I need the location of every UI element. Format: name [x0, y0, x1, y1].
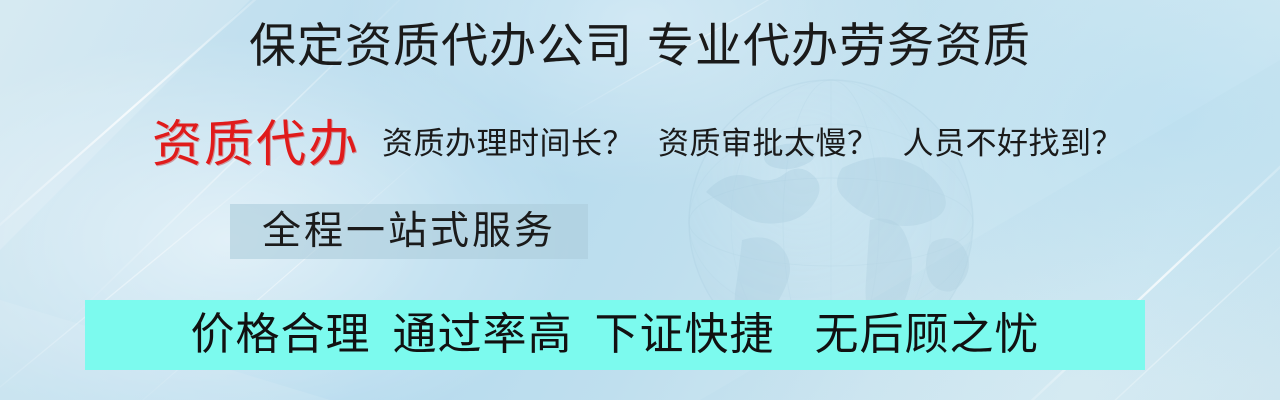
- brand-red-label: 资质代办: [152, 115, 382, 173]
- banner-title: 保定资质代办公司 专业代办劳务资质: [0, 12, 1280, 80]
- highlight-item-4: 无后顾之忧: [815, 310, 1040, 359]
- problem-item-2: 资质审批太慢？: [634, 124, 879, 164]
- highlight-item-3: 下证快捷: [595, 310, 775, 359]
- problems-row: 资质代办 资质办理时间长？ 资质审批太慢？ 人员不好找到？: [152, 108, 1242, 180]
- promo-banner: 保定资质代办公司 专业代办劳务资质 资质代办 资质办理时间长？ 资质审批太慢？ …: [0, 0, 1280, 400]
- highlight-item-2: 通过率高: [393, 310, 573, 359]
- service-badge: 全程一站式服务: [230, 204, 588, 259]
- service-badge-label: 全程一站式服务: [262, 209, 556, 255]
- highlight-item-1: 价格合理: [191, 310, 371, 359]
- problem-item-3: 人员不好找到？: [879, 124, 1124, 164]
- problem-item-1: 资质办理时间长？: [382, 124, 634, 164]
- highlight-bar: 价格合理通过率高下证快捷无后顾之忧: [85, 300, 1145, 370]
- highlight-bar-content: 价格合理通过率高下证快捷无后顾之忧: [191, 306, 1040, 364]
